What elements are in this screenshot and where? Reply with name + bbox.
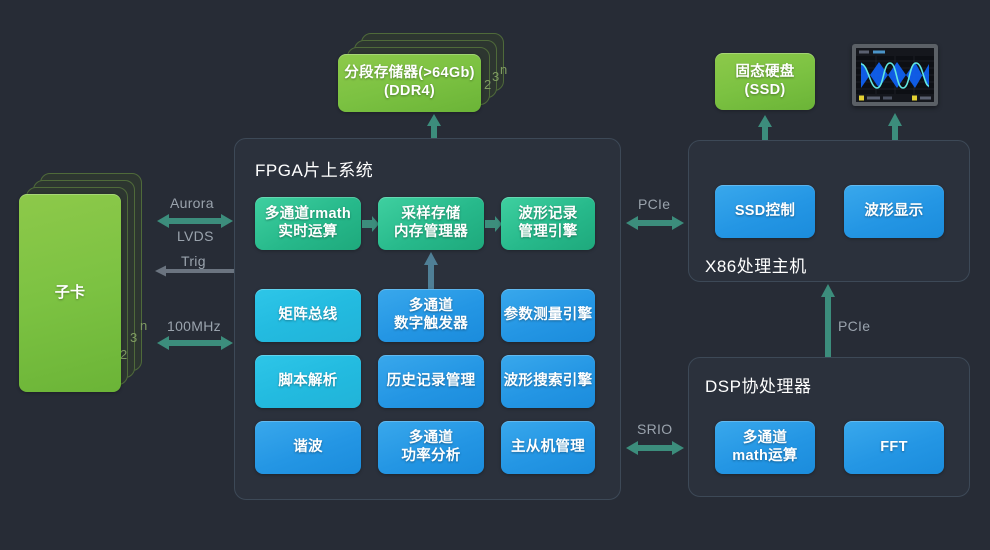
dsp-block-label: math运算: [732, 448, 797, 466]
label-pcie-fpga-x86: PCIe: [638, 196, 670, 212]
fpga-block-label: 采样存储: [394, 206, 468, 224]
daughter-card-block[interactable]: 子卡: [19, 194, 121, 392]
fpga-block-matrix-bus[interactable]: 矩阵总线: [255, 289, 361, 342]
daughter-card-stack-num-2: 2: [120, 347, 127, 362]
memory-stack-num-2: 2: [484, 77, 491, 92]
dsp-block-label: FFT: [880, 439, 907, 457]
label-srio: SRIO: [637, 421, 672, 437]
x86-block-wave-display[interactable]: 波形显示: [844, 185, 944, 238]
segmented-memory-line1: 分段存储器(>64Gb): [344, 65, 475, 83]
arrow-trigger-to-sample: [421, 251, 441, 291]
arrow-srio: [624, 438, 686, 458]
dsp-block-fft[interactable]: FFT: [844, 421, 944, 474]
x86-block-label: SSD控制: [735, 203, 795, 221]
fpga-block-label: 功率分析: [401, 448, 460, 466]
fpga-block-wave-search[interactable]: 波形搜索引擎: [501, 355, 595, 408]
x86-block-ssd-control[interactable]: SSD控制: [715, 185, 815, 238]
daughter-card-stack-num-n: n: [140, 318, 147, 333]
fpga-block-sample-mem-mgr[interactable]: 采样存储 内存管理器: [378, 197, 484, 250]
daughter-card-stack-num-3: 3: [130, 330, 137, 345]
dsp-block-label: 多通道: [732, 430, 797, 448]
fpga-block-digital-trigger[interactable]: 多通道 数字触发器: [378, 289, 484, 342]
label-100mhz: 100MHz: [167, 318, 221, 334]
fpga-block-label: 主从机管理: [511, 439, 585, 457]
fpga-block-master-slave[interactable]: 主从机管理: [501, 421, 595, 474]
fpga-block-multi-ch-rmath[interactable]: 多通道rmath 实时运算: [255, 197, 361, 250]
arrow-100mhz: [155, 333, 235, 353]
oscilloscope-display: [852, 44, 938, 106]
diagram-canvas: n 3 2 1 子卡 Aurora LVDS Trig 100MHz n 3 2…: [0, 0, 990, 550]
ssd-line1: 固态硬盘: [735, 64, 794, 82]
arrow-pcie-fpga-x86: [624, 213, 686, 233]
segmented-memory-line2: (DDR4): [344, 83, 475, 101]
dsp-block-multi-math[interactable]: 多通道 math运算: [715, 421, 815, 474]
fpga-block-label: 历史记录管理: [387, 373, 476, 391]
fpga-block-param-measure[interactable]: 参数测量引擎: [501, 289, 595, 342]
fpga-block-script-parser[interactable]: 脚本解析: [255, 355, 361, 408]
fpga-block-label: 管理引擎: [518, 224, 577, 242]
fpga-block-label: 数字触发器: [394, 316, 468, 334]
daughter-card-label: 子卡: [55, 284, 86, 302]
fpga-block-label: 矩阵总线: [278, 307, 337, 325]
label-pcie-x86-dsp: PCIe: [838, 318, 870, 334]
segmented-memory-block[interactable]: 分段存储器(>64Gb) (DDR4): [338, 54, 481, 112]
fpga-block-label: 谐波: [293, 439, 323, 457]
arrow-pcie-x86-dsp: [818, 283, 838, 357]
fpga-block-label: 内存管理器: [394, 224, 468, 242]
fpga-group-title: FPGA片上系统: [255, 156, 373, 181]
label-lvds: LVDS: [177, 228, 214, 244]
fpga-block-label: 波形记录: [518, 206, 577, 224]
label-aurora: Aurora: [170, 195, 214, 211]
fpga-block-power-analysis[interactable]: 多通道 功率分析: [378, 421, 484, 474]
x86-block-label: 波形显示: [864, 203, 923, 221]
ssd-line2: (SSD): [735, 82, 794, 100]
fpga-block-wave-record-engine[interactable]: 波形记录 管理引擎: [501, 197, 595, 250]
x86-host-group-title: X86处理主机: [705, 252, 807, 277]
fpga-block-label: 多通道: [401, 430, 460, 448]
fpga-block-history-manager[interactable]: 历史记录管理: [378, 355, 484, 408]
fpga-block-label: 实时运算: [265, 224, 351, 242]
fpga-block-label: 多通道: [394, 298, 468, 316]
fpga-block-label: 脚本解析: [278, 373, 337, 391]
fpga-block-label: 参数测量引擎: [504, 307, 593, 325]
fpga-block-label: 多通道rmath: [265, 206, 351, 224]
ssd-block[interactable]: 固态硬盘 (SSD): [715, 53, 815, 110]
memory-stack-num-n: n: [500, 62, 507, 77]
fpga-block-label: 波形搜索引擎: [504, 373, 593, 391]
dsp-group-title: DSP协处理器: [705, 372, 811, 397]
fpga-block-harmonics[interactable]: 谐波: [255, 421, 361, 474]
memory-stack-num-3: 3: [492, 69, 499, 84]
scope-screen: [856, 48, 934, 102]
